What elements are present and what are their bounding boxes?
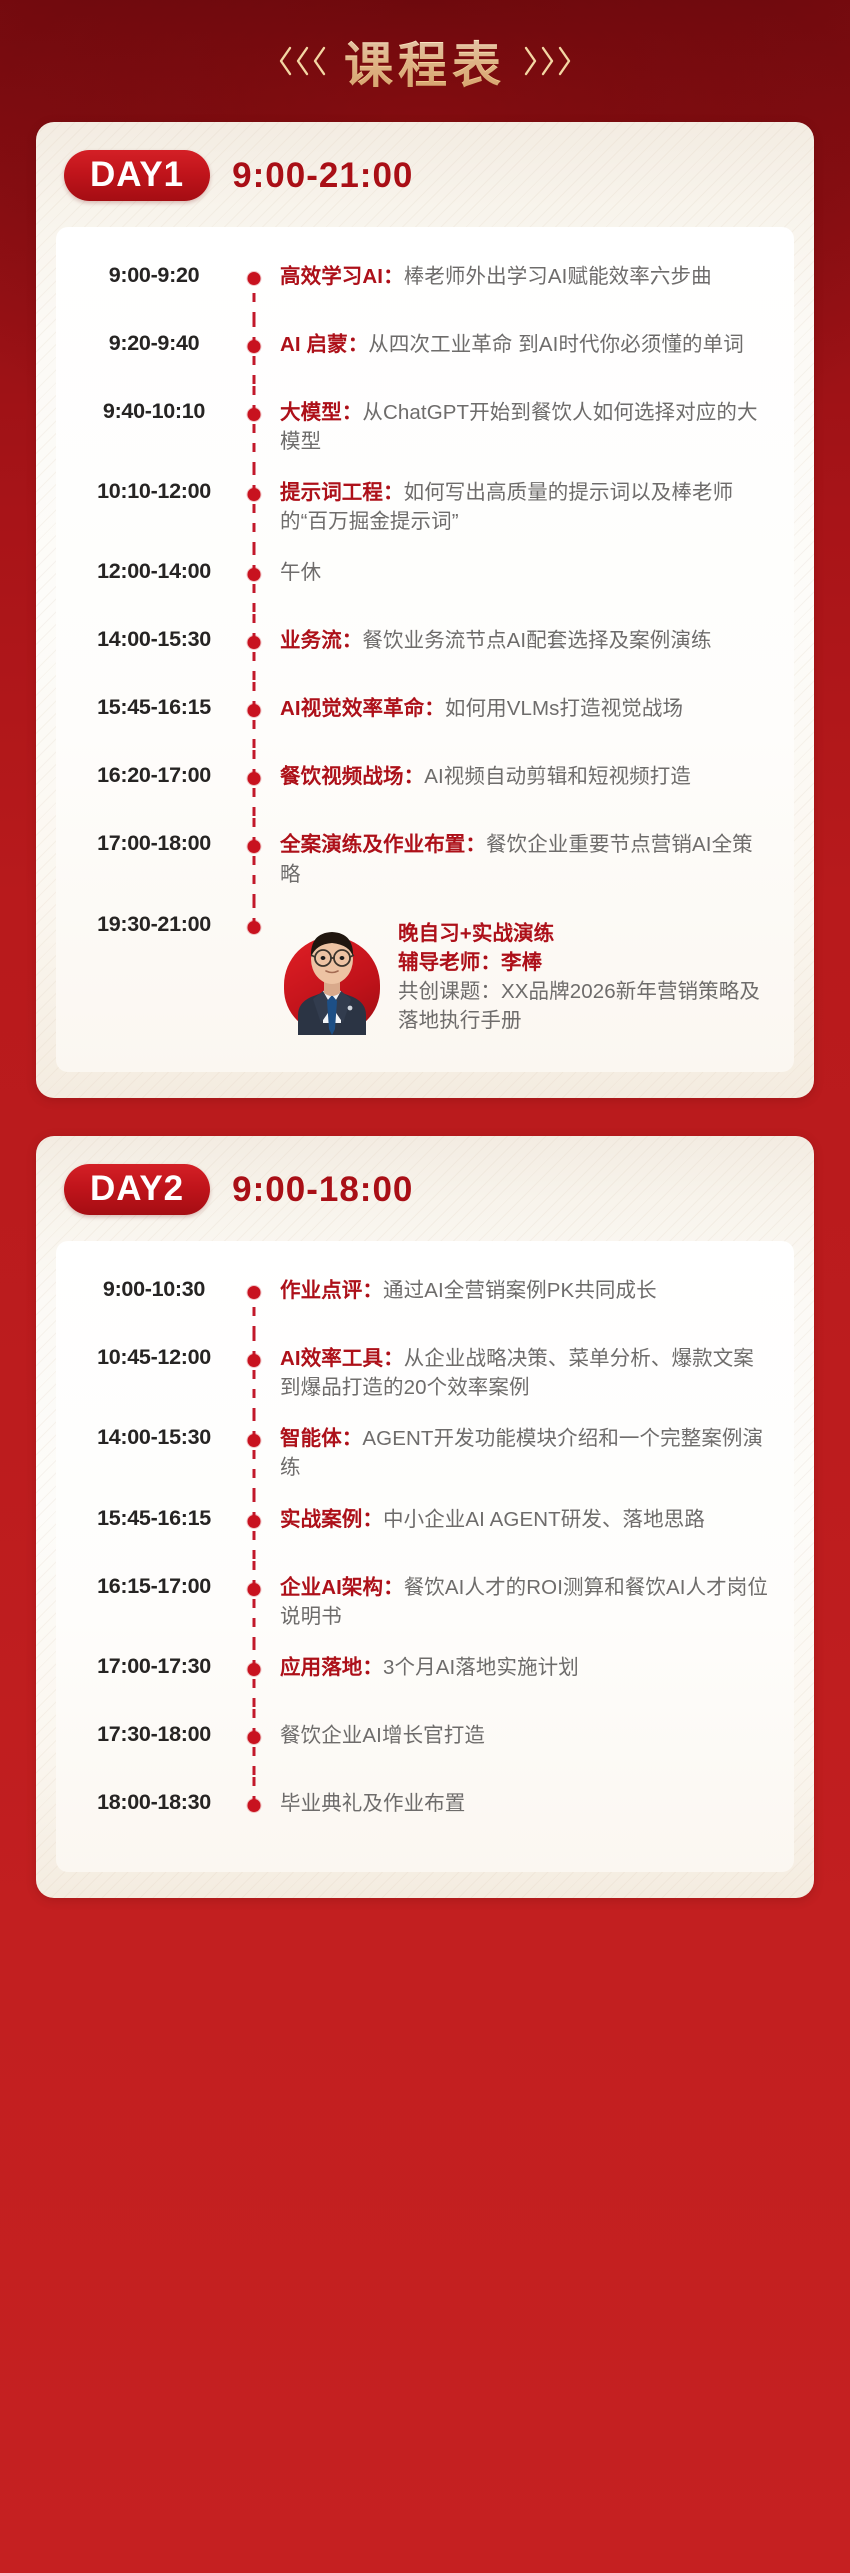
day1-rows: 9:00-9:20 高效学习AI：棒老师外出学习AI赋能效率六步曲 9:20-9… <box>74 251 776 1046</box>
timeline-rail <box>234 1573 274 1631</box>
timeline-dot-icon <box>248 488 261 501</box>
day1-time-range: 9:00-21:00 <box>232 156 413 196</box>
timeline-rail <box>234 1505 274 1551</box>
row-time: 10:10-12:00 <box>74 478 234 504</box>
timeline-rail <box>234 398 274 456</box>
row-time: 17:00-17:30 <box>74 1653 234 1679</box>
table-row[interactable]: 18:00-18:30 毕业典礼及作业布置 <box>74 1778 776 1846</box>
timeline-dot-icon <box>248 1286 261 1299</box>
table-row[interactable]: 15:45-16:15 AI视觉效率革命：如何用VLMs打造视觉战场 <box>74 683 776 751</box>
table-row[interactable]: 16:20-17:00 餐饮视频战场：AI视频自动剪辑和短视频打造 <box>74 751 776 819</box>
row-time: 18:00-18:30 <box>74 1789 234 1815</box>
row-content: 实战案例：中小企业AI AGENT研发、落地思路 <box>274 1505 776 1534</box>
instructor-text: 晚自习+实战演练 辅导老师：李棒 共创课题：XX品牌2026新年营销策略及落地执… <box>398 911 772 1035</box>
timeline-dot-icon <box>248 272 261 285</box>
row-content: 作业点评：通过AI全营销案例PK共同成长 <box>274 1276 776 1305</box>
timeline-dot-icon <box>248 840 261 853</box>
timeline-rail <box>234 558 274 604</box>
table-row[interactable]: 9:00-9:20 高效学习AI：棒老师外出学习AI赋能效率六步曲 <box>74 251 776 319</box>
row-content: 企业AI架构：餐饮AI人才的ROI测算和餐饮AI人才岗位说明书 <box>274 1573 776 1631</box>
timeline-rail <box>234 1721 274 1767</box>
timeline-dot-icon <box>248 921 261 934</box>
timeline-dot-icon <box>248 1515 261 1528</box>
row-content: 午休 <box>274 558 776 587</box>
table-row[interactable]: 9:00-10:30 作业点评：通过AI全营销案例PK共同成长 <box>74 1265 776 1333</box>
table-row[interactable]: 12:00-14:00 午休 <box>74 547 776 615</box>
row-time: 15:45-16:15 <box>74 694 234 720</box>
table-row[interactable]: 14:00-15:30 业务流：餐饮业务流节点AI配套选择及案例演练 <box>74 615 776 683</box>
row-desc: 餐饮业务流节点AI配套选择及案例演练 <box>362 629 711 652</box>
timeline-rail <box>234 1276 274 1322</box>
table-row[interactable]: 17:00-18:00 全案演练及作业布置：餐饮企业重要节点营销AI全策略 <box>74 819 776 899</box>
row-title: 应用落地： <box>280 1656 383 1679</box>
timeline-rail <box>234 478 274 536</box>
double-chevron-left-icon <box>278 46 326 76</box>
timeline-rail <box>234 1424 274 1482</box>
day1-card: DAY1 9:00-21:00 9:00-9:20 高效学习AI：棒老师外出学习… <box>36 122 814 1098</box>
page-title: 课程表 <box>344 26 506 97</box>
table-row[interactable]: 9:20-9:40 AI 启蒙：从四次工业革命 到AI时代你必须懂的单词 <box>74 319 776 387</box>
row-title: 大模型： <box>280 401 362 424</box>
row-content: 业务流：餐饮业务流节点AI配套选择及案例演练 <box>274 626 776 655</box>
instructor-row[interactable]: 19:30-21:00 <box>74 900 776 1046</box>
row-time: 12:00-14:00 <box>74 558 234 584</box>
portrait-illustration-icon <box>280 911 384 1035</box>
timeline-dot-icon <box>248 704 261 717</box>
row-desc: 午休 <box>280 561 321 584</box>
row-desc: 毕业典礼及作业布置 <box>280 1792 465 1815</box>
table-row[interactable]: 10:45-12:00 AI效率工具：从企业战略决策、菜单分析、爆款文案到爆品打… <box>74 1333 776 1413</box>
row-title: 企业AI架构： <box>280 1576 404 1599</box>
timeline-rail <box>234 911 274 1035</box>
row-desc: 从四次工业革命 到AI时代你必须懂的单词 <box>368 333 744 356</box>
row-title: 高效学习AI： <box>280 265 404 288</box>
table-row[interactable]: 10:10-12:00 提示词工程：如何写出高质量的提示词以及棒老师的“百万掘金… <box>74 467 776 547</box>
row-content: 高效学习AI：棒老师外出学习AI赋能效率六步曲 <box>274 262 776 291</box>
day2-time-range: 9:00-18:00 <box>232 1170 413 1210</box>
timeline-dot-icon <box>248 1434 261 1447</box>
schedule-page: 课程表 DAY1 9:00-21:00 9:00-9:20 高效学习AI：棒老师… <box>0 0 850 1958</box>
timeline-rail <box>234 330 274 376</box>
row-time: 17:00-18:00 <box>74 830 234 856</box>
table-row[interactable]: 15:45-16:15 实战案例：中小企业AI AGENT研发、落地思路 <box>74 1494 776 1562</box>
row-desc: 棒老师外出学习AI赋能效率六步曲 <box>404 265 712 288</box>
row-time: 15:45-16:15 <box>74 1505 234 1531</box>
timeline-dot-icon <box>248 772 261 785</box>
timeline-dot-icon <box>248 636 261 649</box>
timeline-dot-icon <box>248 340 261 353</box>
timeline-rail <box>234 1344 274 1402</box>
day2-panel: 9:00-10:30 作业点评：通过AI全营销案例PK共同成长 10:45-12… <box>56 1241 794 1872</box>
row-title: 全案演练及作业布置： <box>280 833 486 856</box>
row-content: AI 启蒙：从四次工业革命 到AI时代你必须懂的单词 <box>274 330 776 359</box>
day1-badge: DAY1 <box>64 150 210 201</box>
row-time: 9:20-9:40 <box>74 330 234 356</box>
table-row[interactable]: 17:30-18:00 餐饮企业AI增长官打造 <box>74 1710 776 1778</box>
row-time: 17:30-18:00 <box>74 1721 234 1747</box>
day1-panel: 9:00-9:20 高效学习AI：棒老师外出学习AI赋能效率六步曲 9:20-9… <box>56 227 794 1072</box>
row-desc: 如何用VLMs打造视觉战场 <box>445 697 683 720</box>
row-content: 全案演练及作业布置：餐饮企业重要节点营销AI全策略 <box>274 830 776 888</box>
timeline-rail <box>234 626 274 672</box>
row-content: 应用落地：3个月AI落地实施计划 <box>274 1653 776 1682</box>
timeline-rail <box>234 1789 274 1835</box>
row-content: 餐饮视频战场：AI视频自动剪辑和短视频打造 <box>274 762 776 791</box>
row-desc: 通过AI全营销案例PK共同成长 <box>383 1279 657 1302</box>
row-title: AI视觉效率革命： <box>280 697 445 720</box>
row-content: AI效率工具：从企业战略决策、菜单分析、爆款文案到爆品打造的20个效率案例 <box>274 1344 776 1402</box>
row-content: AI视觉效率革命：如何用VLMs打造视觉战场 <box>274 694 776 723</box>
timeline-dot-icon <box>248 408 261 421</box>
timeline-rail <box>234 694 274 740</box>
table-row[interactable]: 16:15-17:00 企业AI架构：餐饮AI人才的ROI测算和餐饮AI人才岗位… <box>74 1562 776 1642</box>
row-content: 晚自习+实战演练 辅导老师：李棒 共创课题：XX品牌2026新年营销策略及落地执… <box>274 911 776 1035</box>
row-title: AI 启蒙： <box>280 333 368 356</box>
double-chevron-right-icon <box>524 46 572 76</box>
page-header: 课程表 <box>36 0 814 122</box>
timeline-dot-icon <box>248 1663 261 1676</box>
row-time: 16:20-17:00 <box>74 762 234 788</box>
row-title: 餐饮视频战场： <box>280 765 424 788</box>
instructor-line3: 共创课题：XX品牌2026新年营销策略及落地执行手册 <box>398 977 772 1035</box>
row-desc: 餐饮企业AI增长官打造 <box>280 1724 485 1747</box>
timeline-rail <box>234 262 274 308</box>
row-content: 智能体：AGENT开发功能模块介绍和一个完整案例演练 <box>274 1424 776 1482</box>
row-time: 14:00-15:30 <box>74 1424 234 1450</box>
day2-card: DAY2 9:00-18:00 9:00-10:30 作业点评：通过AI全营销案… <box>36 1136 814 1898</box>
row-title: 智能体： <box>280 1427 362 1450</box>
timeline-dot-icon <box>248 1354 261 1367</box>
row-title: 作业点评： <box>280 1279 383 1302</box>
row-time: 10:45-12:00 <box>74 1344 234 1370</box>
row-time: 19:30-21:00 <box>74 911 234 937</box>
timeline-rail <box>234 830 274 888</box>
timeline-dot-icon <box>248 568 261 581</box>
day2-badge: DAY2 <box>64 1164 210 1215</box>
timeline-dot-icon <box>248 1731 261 1744</box>
timeline-dot-icon <box>248 1583 261 1596</box>
row-content: 大模型：从ChatGPT开始到餐饮人如何选择对应的大模型 <box>274 398 776 456</box>
day2-header: DAY2 9:00-18:00 <box>36 1136 814 1221</box>
table-row[interactable]: 17:00-17:30 应用落地：3个月AI落地实施计划 <box>74 1642 776 1710</box>
row-title: AI效率工具： <box>280 1347 404 1370</box>
timeline-rail <box>234 762 274 808</box>
row-time: 9:00-10:30 <box>74 1276 234 1302</box>
row-content: 餐饮企业AI增长官打造 <box>274 1721 776 1750</box>
row-time: 16:15-17:00 <box>74 1573 234 1599</box>
day2-rows: 9:00-10:30 作业点评：通过AI全营销案例PK共同成长 10:45-12… <box>74 1265 776 1846</box>
row-title: 业务流： <box>280 629 362 652</box>
day1-header: DAY1 9:00-21:00 <box>36 122 814 207</box>
row-time: 9:00-9:20 <box>74 262 234 288</box>
instructor-line2: 辅导老师：李棒 <box>398 948 772 977</box>
instructor-portrait <box>280 911 384 1035</box>
row-title: 提示词工程： <box>280 481 404 504</box>
row-desc: 3个月AI落地实施计划 <box>383 1656 579 1679</box>
instructor-line1: 晚自习+实战演练 <box>398 919 772 948</box>
row-content: 提示词工程：如何写出高质量的提示词以及棒老师的“百万掘金提示词” <box>274 478 776 536</box>
row-desc: AI视频自动剪辑和短视频打造 <box>424 765 691 788</box>
row-time: 14:00-15:30 <box>74 626 234 652</box>
timeline-dot-icon <box>248 1799 261 1812</box>
row-desc: 中小企业AI AGENT研发、落地思路 <box>383 1508 705 1531</box>
timeline-rail <box>234 1653 274 1699</box>
row-content: 毕业典礼及作业布置 <box>274 1789 776 1818</box>
row-title: 实战案例： <box>280 1508 383 1531</box>
table-row[interactable]: 14:00-15:30 智能体：AGENT开发功能模块介绍和一个完整案例演练 <box>74 1413 776 1493</box>
table-row[interactable]: 9:40-10:10 大模型：从ChatGPT开始到餐饮人如何选择对应的大模型 <box>74 387 776 467</box>
row-time: 9:40-10:10 <box>74 398 234 424</box>
